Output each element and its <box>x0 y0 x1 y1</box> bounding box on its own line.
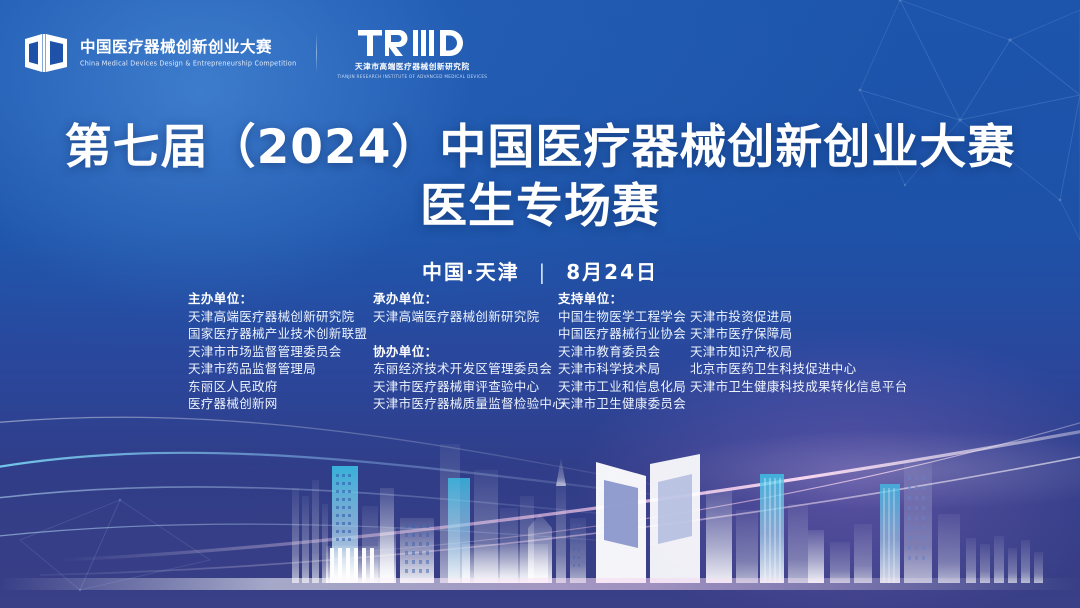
competition-logo: 中国医疗器械创新创业大赛 China Medical Devices Desig… <box>22 31 296 75</box>
coorganizer-header: 协办单位： <box>373 343 558 361</box>
trimd-logo-cn: 天津市高端医疗器械创新研究院 <box>355 61 470 72</box>
supporter-item: 天津市科学技术局 <box>558 360 690 378</box>
competition-logo-text: 中国医疗器械创新创业大赛 China Medical Devices Desig… <box>80 40 296 66</box>
supporter-item: 天津市投资促进局 <box>690 308 908 326</box>
poster-canvas: 中国医疗器械创新创业大赛 China Medical Devices Desig… <box>0 0 1080 608</box>
event-date: 8月24日 <box>566 260 658 284</box>
undertaker-header: 承办单位： <box>373 290 558 308</box>
coorganizer-item: 东丽经济技术开发区管理委员会 <box>373 360 558 378</box>
competition-logo-en: China Medical Devices Design & Entrepren… <box>80 60 296 67</box>
supporter-item: 中国医疗器械行业协会 <box>558 325 690 343</box>
organizer-item: 东丽区人民政府 <box>188 378 373 396</box>
organizer-column: 主办单位： 天津高端医疗器械创新研究院 国家医疗器械产业技术创新联盟 天津市市场… <box>188 290 373 413</box>
undertaker-coorganizer-column: 承办单位： 天津高端医疗器械创新研究院 协办单位： 东丽经济技术开发区管理委员会… <box>373 290 558 413</box>
organizer-item: 国家医疗器械产业技术创新联盟 <box>188 325 373 343</box>
logo-bar: 中国医疗器械创新创业大赛 China Medical Devices Desig… <box>22 22 487 84</box>
organizer-item: 天津高端医疗器械创新研究院 <box>188 308 373 326</box>
supporter-column-left: 支持单位： 中国生物医学工程学会 中国医疗器械行业协会 天津市教育委员会 天津市… <box>558 290 690 413</box>
supporter-item: 中国生物医学工程学会 <box>558 308 690 326</box>
poster-title: 第七届（2024）中国医疗器械创新创业大赛 医生专场赛 <box>0 118 1080 236</box>
coorganizer-item: 天津市医疗器械审评查验中心 <box>373 378 558 396</box>
organizer-item: 天津市药品监督管理局 <box>188 360 373 378</box>
supporter-item: 天津市知识产权局 <box>690 343 908 361</box>
event-location-date: 中国·天津 | 8月24日 <box>0 256 1080 285</box>
supporter-item: 天津市卫生健康委员会 <box>558 395 690 413</box>
supporter-column-right: 天津市投资促进局 天津市医疗保障局 天津市知识产权局 北京市医药卫生科技促进中心… <box>690 290 908 395</box>
title-line-1: 第七届（2024）中国医疗器械创新创业大赛 <box>0 118 1080 177</box>
undertaker-item: 天津高端医疗器械创新研究院 <box>373 308 558 326</box>
organizer-header: 主办单位： <box>188 290 373 308</box>
trimd-logo: 天津市高端医疗器械创新研究院 TIANJIN RESEARCH INSTITUT… <box>337 28 487 79</box>
column-spacer <box>690 290 908 308</box>
organizer-item: 医疗器械创新网 <box>188 395 373 413</box>
competition-logo-cn: 中国医疗器械创新创业大赛 <box>80 40 296 56</box>
trimd-wordmark-icon <box>358 28 466 58</box>
supporter-item: 天津市工业和信息化局 <box>558 378 690 396</box>
title-line-2: 医生专场赛 <box>0 177 1080 236</box>
column-spacer <box>373 325 558 343</box>
supporter-item: 天津市教育委员会 <box>558 343 690 361</box>
organizations-block: 主办单位： 天津高端医疗器械创新研究院 国家医疗器械产业技术创新联盟 天津市市场… <box>188 290 908 413</box>
open-door-logo-icon <box>22 31 70 75</box>
supporter-item: 北京市医药卫生科技促进中心 <box>690 360 908 378</box>
organizer-item: 天津市市场监督管理委员会 <box>188 343 373 361</box>
supporter-header: 支持单位： <box>558 290 690 308</box>
city-skyline-silhouette <box>0 418 1080 608</box>
event-location: 中国·天津 <box>422 260 520 284</box>
subtitle-divider: | <box>539 260 548 284</box>
trimd-logo-en: TIANJIN RESEARCH INSTITUTE OF ADVANCED M… <box>337 74 487 79</box>
coorganizer-item: 天津市医疗器械质量监督检验中心 <box>373 395 558 413</box>
supporter-item: 天津市医疗保障局 <box>690 325 908 343</box>
supporter-item: 天津市卫生健康科技成果转化信息平台 <box>690 378 908 396</box>
logo-divider <box>316 33 317 73</box>
